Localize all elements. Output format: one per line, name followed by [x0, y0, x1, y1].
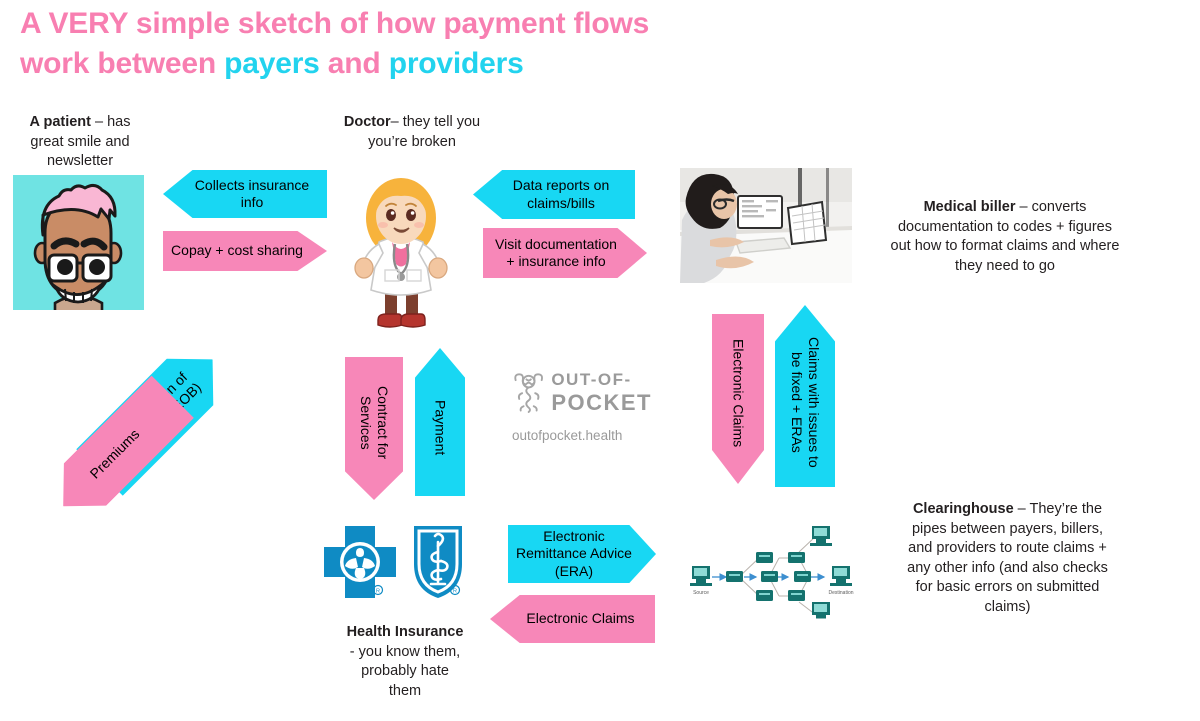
flow-premiums[interactable]: Premiums [42, 375, 194, 527]
patient-desc-2: great smile and [30, 134, 129, 150]
medical-biller-label: Medical biller [924, 199, 1016, 215]
patient-desc-3: newsletter [47, 153, 113, 169]
health-insurance-desc-2: - you know them, [350, 644, 460, 660]
svg-text:R: R [453, 589, 457, 595]
doctor-desc-2: you’re broken [368, 134, 456, 150]
flow-era-line-1: Electronic [543, 528, 604, 544]
clearinghouse-desc-3: and providers to route claims + [908, 540, 1107, 556]
clearinghouse-desc-2: pipes between payers, billers, [912, 521, 1103, 537]
clearinghouse-desc-6: claims) [985, 599, 1031, 615]
flow-collects-line-2: info [241, 194, 264, 210]
network-source-label: Source [693, 590, 709, 596]
health-insurance-desc-4: them [389, 683, 421, 699]
clearinghouse-caption: Clearinghouse – They’re the pipes betwee… [865, 500, 1150, 617]
flow-issues-line-1: Claims with issues to [806, 337, 822, 468]
patient-caption: A patient – has great smile and newslett… [0, 113, 160, 172]
patient-label: A patient [30, 114, 92, 130]
flow-electronic-remittance-advice[interactable]: Electronic Remittance Advice (ERA) [508, 525, 656, 583]
flow-data-reports-claims-bills[interactable]: Data reports on claims/bills [473, 170, 635, 219]
network-routing-diagram: Source Destination [684, 520, 864, 620]
flow-contract-line-1: Contract for [375, 386, 391, 459]
patient-dash: – has [91, 114, 131, 130]
flow-collects-insurance-info[interactable]: Collects insurance info [163, 170, 327, 218]
flow-electronic-claims-bottom[interactable]: Electronic Claims [490, 595, 655, 643]
title-line-1: A VERY simple sketch of how payment flow… [20, 4, 1020, 44]
medical-biller-desc-4: they need to go [955, 258, 1055, 274]
outofpocket-logo-icon [512, 362, 545, 420]
flow-payment-label: Payment [433, 400, 449, 455]
doctor-illustration [345, 170, 457, 340]
clearinghouse-label: Clearinghouse [913, 501, 1014, 517]
blue-cross-blue-shield-logos: R R [318, 520, 488, 608]
page-title: A VERY simple sketch of how payment flow… [20, 4, 1020, 84]
watermark-line-1: OUT-OF- [551, 370, 652, 390]
health-insurance-desc-3: probably hate [361, 663, 449, 679]
clearinghouse-desc-5: for basic errors on submitted [916, 579, 1100, 595]
medical-biller-desc-3: out how to format claims and where [891, 238, 1120, 254]
flow-issues-line-2: be fixed + ERAs [789, 352, 805, 453]
medical-biller-caption: Medical biller – converts documentation … [860, 198, 1150, 276]
flow-payment[interactable]: Payment [415, 348, 465, 496]
blue-shield-icon: R [414, 526, 462, 598]
title-line-2-prefix: work between [20, 47, 224, 80]
patient-avatar-illustration [13, 175, 144, 310]
flow-electronic-claims-vertical[interactable]: Electronic Claims [712, 314, 764, 484]
medical-biller-dash: – converts [1015, 199, 1086, 215]
doctor-caption: Doctor– they tell you you’re broken [312, 113, 512, 152]
doctor-label: Doctor [344, 114, 391, 130]
flow-contract-for-services[interactable]: Contract for Services [345, 357, 403, 500]
title-word-payers: payers [224, 47, 320, 80]
flow-electronic-claims-v-label: Electronic Claims [731, 339, 747, 447]
flow-claims-with-issues[interactable]: Claims with issues to be fixed + ERAs [775, 305, 835, 487]
flow-visit-line-1: Visit documentation [495, 236, 617, 252]
medical-biller-desc-2: documentation to codes + figures [898, 219, 1112, 235]
flow-era-line-3: (ERA) [555, 563, 593, 579]
health-insurance-label: Health Insurance [347, 624, 464, 640]
health-insurance-caption: Health Insurance - you know them, probab… [315, 623, 495, 701]
flow-electronic-claims-b-label: Electronic Claims [526, 610, 634, 626]
flow-data-line-1: Data reports on [513, 177, 610, 193]
flow-premiums-label: Premiums [87, 426, 143, 482]
flow-era-line-2: Remittance Advice [516, 545, 632, 561]
flow-copay-cost-sharing[interactable]: Copay + cost sharing [163, 231, 327, 271]
network-destination-label: Destination [828, 590, 853, 596]
blue-cross-icon: R [324, 526, 396, 598]
watermark-line-2: POCKET [551, 390, 652, 416]
flow-copay-label: Copay + cost sharing [171, 242, 303, 258]
title-word-and: and [320, 47, 389, 80]
svg-text:R: R [376, 589, 380, 595]
flow-contract-line-2: Services [358, 396, 374, 450]
doctor-dash: – they tell you [391, 114, 480, 130]
outofpocket-watermark: OUT-OF- POCKET outofpocket.health [512, 362, 652, 443]
title-line-2: work between payers and providers [20, 44, 1020, 84]
title-word-providers: providers [389, 47, 524, 80]
flow-visit-line-2: + insurance info [506, 253, 605, 269]
flow-data-line-2: claims/bills [527, 195, 595, 211]
medical-biller-photo [680, 168, 852, 283]
clearinghouse-dash: – They’re the [1014, 501, 1102, 517]
clearinghouse-desc-4: any other info (and also checks [907, 560, 1108, 576]
watermark-url: outofpocket.health [512, 428, 652, 443]
flow-visit-documentation-insurance-info[interactable]: Visit documentation + insurance info [483, 228, 647, 278]
title-line-1-text: A VERY simple sketch of how payment flow… [20, 7, 649, 40]
flow-collects-line-1: Collects insurance [195, 177, 309, 193]
